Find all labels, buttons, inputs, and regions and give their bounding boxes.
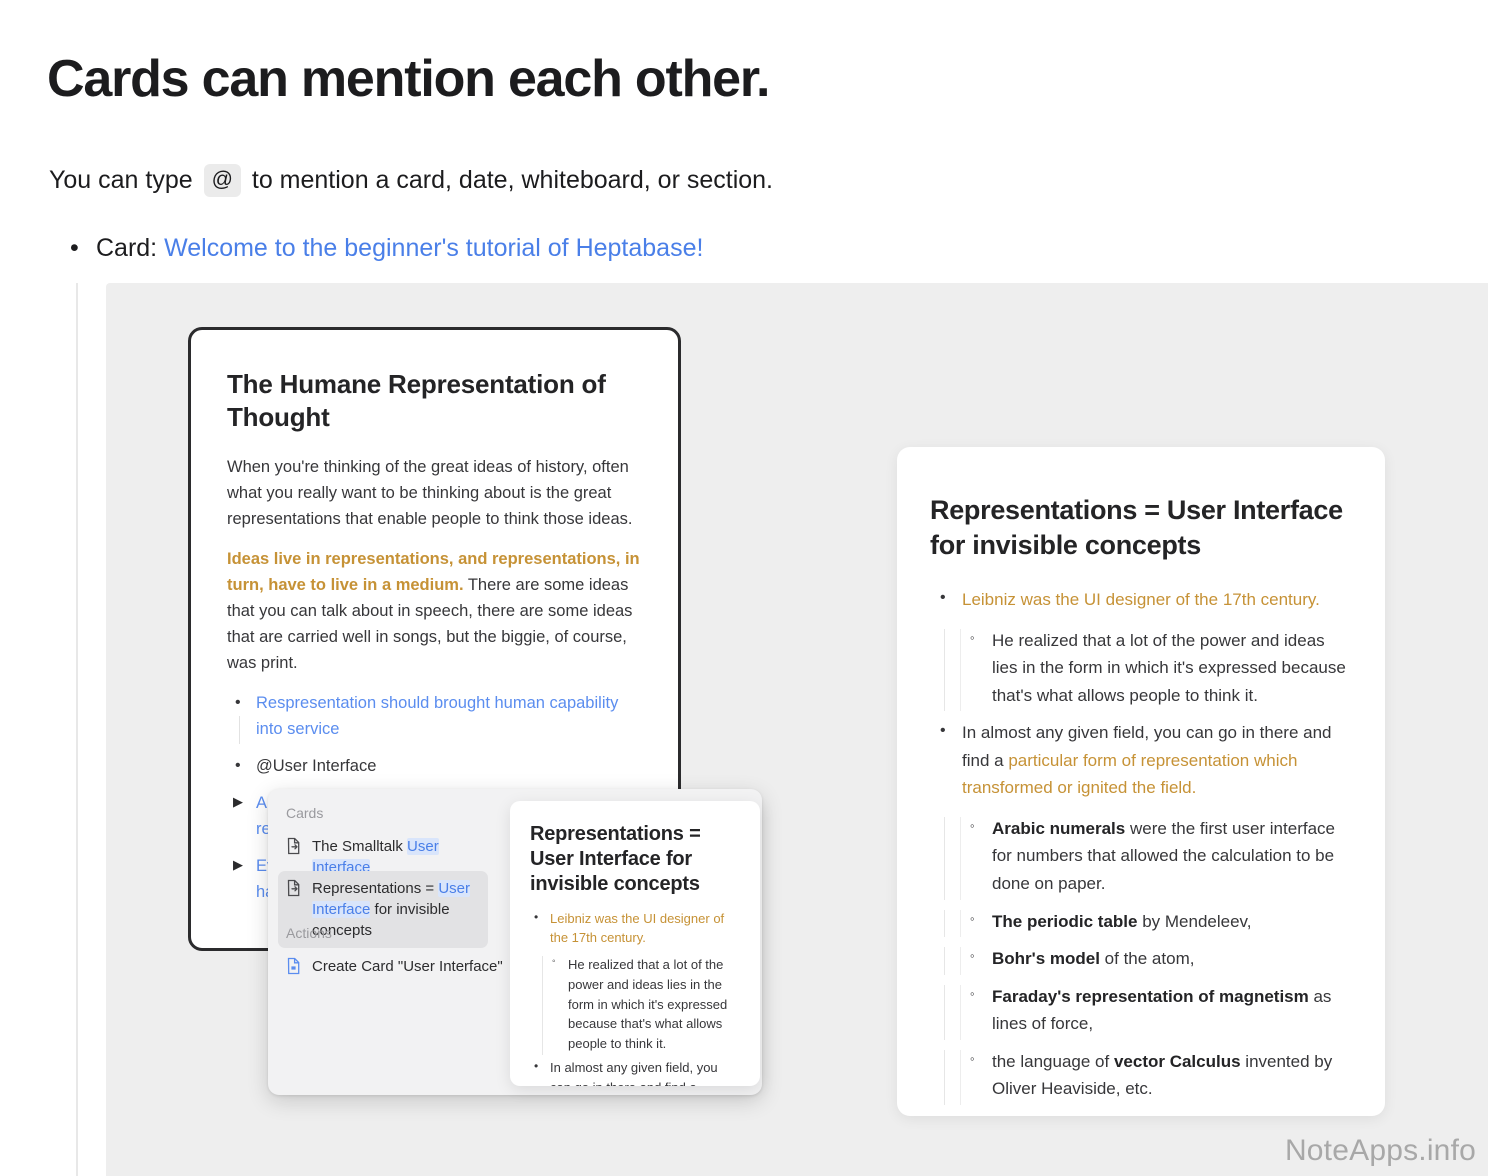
card2-bullet-4-bold: Arabic numerals [992,819,1125,838]
card-preview-representations[interactable]: Representations = User Interface for inv… [510,801,760,1086]
card2-bullet-1: • Leibniz was the UI designer of the 17t… [930,586,1352,614]
subtitle-text-after: to mention a card, date, whiteboard, or … [252,166,773,194]
card2-bullet-5-bold: The periodic table [992,912,1137,931]
card2-bullet-7-bold: Faraday's representation of magnetism [992,987,1309,1006]
card-link-icon [286,837,302,855]
create-card-icon [286,957,302,975]
bullet-circle-icon: ◦ [970,945,975,966]
card1-bullet-1-text[interactable]: Respresentation should brought human cap… [256,694,618,738]
preview-bullet-1-text: Leibniz was the UI designer of the 17th … [550,911,724,946]
watermark: NoteApps.info [1285,1134,1476,1168]
bullet-dot-icon: • [534,908,538,926]
preview-bullet-3: • In almost any given field, you can go … [530,1058,740,1086]
card2-bullet-6-bold: Bohr's model [992,949,1100,968]
card2-bullet-1-text: Leibniz was the UI designer of the 17th … [962,590,1320,609]
bullet-circle-icon: ◦ [970,1048,975,1069]
card2-bullet-list: • Leibniz was the UI designer of the 17t… [930,586,1352,1103]
card2-bullet-7: ◦ Faraday's representation of magnetism … [930,983,1352,1038]
card1-paragraph-2: Ideas live in representations, and repre… [227,546,642,676]
bullet-dot-icon: • [235,753,241,778]
popup-action-create-card-label: Create Card "User Interface" [312,956,503,977]
card2-title: Representations = User Interface for inv… [930,493,1352,563]
preview-bullet-3-text: In almost any given field, you can go in… [550,1060,718,1086]
bullet-circle-icon: ◦ [552,954,556,969]
bullet-circle-icon: ◦ [970,983,975,1004]
preview-bullet-2: ◦ He realized that a lot of the power an… [530,955,740,1054]
card2-bullet-5: ◦ The periodic table by Mendeleev, [930,908,1352,936]
card2-bullet-6-rest: of the atom, [1100,949,1195,968]
card2-bullet-5-rest: by Mendeleev, [1137,912,1251,931]
popup-item-hl1: User [407,838,439,855]
page-title: Cards can mention each other. [47,50,769,110]
card2-bullet-8: ◦ the language of vector Calculus invent… [930,1048,1352,1103]
card1-bullet-3-text[interactable]: A [256,794,267,812]
card1-bullet-1: • Respresentation should brought human c… [227,690,642,742]
popup-item-representations-text: Representations = User Interface for inv… [312,878,480,941]
popup-item-hl1: User [438,880,470,897]
card2-bullet-6: ◦ Bohr's model of the atom, [930,945,1352,973]
bullet-dot-icon: • [70,231,96,266]
card-representations-user-interface[interactable]: Representations = User Interface for inv… [897,447,1385,1116]
popup-item-hl3: face [342,901,370,918]
preview-bullet-list: • Leibniz was the UI designer of the 17t… [530,909,740,1086]
popup-item-pre: Representations = [312,880,438,897]
popup-section-actions-label: Actions [286,925,332,941]
bullet-dot-icon: • [940,718,946,744]
card2-bullet-3: • In almost any given field, you can go … [930,719,1352,802]
at-mention-badge: @ [204,164,241,197]
card2-bullet-4: ◦ Arabic numerals were the first user in… [930,815,1352,898]
popup-item-pre: The Smalltalk [312,838,407,855]
preview-title: Representations = User Interface for inv… [530,822,740,898]
card-link-icon [286,879,302,897]
bullet-dot-icon: • [940,585,946,611]
card-reference-bullet: •Card: Welcome to the beginner's tutoria… [70,231,703,266]
card2-bullet-2: ◦ He realized that a lot of the power an… [930,627,1352,710]
card2-bullet-2-text: He realized that a lot of the power and … [992,631,1346,705]
popup-item-hl2: Inter [312,901,342,918]
bullet-circle-icon: ◦ [970,815,975,836]
bullet-dot-icon: • [235,690,241,715]
card1-paragraph-1: When you're thinking of the great ideas … [227,454,642,532]
bullet-circle-icon: ◦ [970,627,975,648]
preview-bullet-1: • Leibniz was the UI designer of the 17t… [530,909,740,949]
chevron-right-icon[interactable]: ▶ [233,855,243,876]
card2-bullet-8-lead: the language of [992,1052,1114,1071]
popup-section-cards-label: Cards [286,805,323,821]
card1-bullet-2: • @User Interface [227,753,642,779]
bullet-circle-icon: ◦ [970,908,975,929]
card2-bullet-8-bold: vector Calculus [1114,1052,1241,1071]
card1-title: The Humane Representation of Thought [227,368,642,435]
card-mention-link[interactable]: Welcome to the beginner's tutorial of He… [164,234,703,262]
card1-bullet-2-text: @User Interface [256,757,376,775]
page-subtitle: You can type @ to mention a card, date, … [49,164,773,198]
chevron-right-icon[interactable]: ▶ [233,792,243,813]
left-indent-rule [76,283,78,1176]
subtitle-text-before: You can type [49,166,193,194]
preview-bullet-2-text: He realized that a lot of the power and … [568,957,727,1051]
popup-action-create-card[interactable]: Create Card "User Interface" [278,949,528,984]
page-root: Cards can mention each other. You can ty… [0,0,1488,1176]
bullet-dot-icon: • [534,1057,538,1075]
card2-bullet-3-amber: particular form of representation which … [962,751,1297,798]
bullet-label: Card: [96,234,157,262]
